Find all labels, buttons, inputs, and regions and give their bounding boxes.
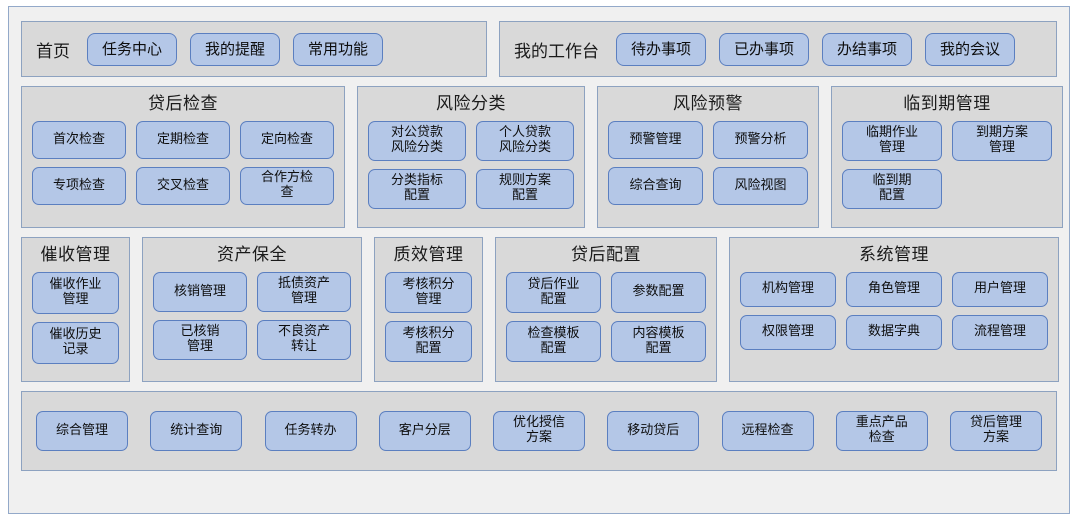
- menu-button-check-template-config[interactable]: 检查模板 配置: [506, 321, 601, 362]
- top-bar-row: 首页 任务中心 我的提醒 常用功能 我的工作台 待办事项 已办事项 办结事项 我…: [21, 21, 1057, 77]
- panel-body-collection-management: 催收作业 管理 催收历史 记录: [22, 272, 129, 381]
- menu-button-user-management[interactable]: 用户管理: [952, 272, 1048, 307]
- menu-button-personal-loan-risk-classification[interactable]: 个人贷款 风险分类: [476, 121, 574, 161]
- button-row: 首次检查 定期检查 定向检查: [32, 121, 334, 159]
- home-toolbar: 首页 任务中心 我的提醒 常用功能: [21, 21, 487, 77]
- panel-title-system-management: 系统管理: [730, 238, 1058, 272]
- menu-button-written-off-management[interactable]: 已核销 管理: [153, 320, 247, 360]
- button-row: 权限管理 数据字典 流程管理: [740, 315, 1048, 350]
- panel-title-loan-check: 贷后检查: [22, 87, 344, 121]
- button-row: 考核积分 管理: [385, 272, 472, 313]
- menu-button-organization-management[interactable]: 机构管理: [740, 272, 836, 307]
- button-row: 催收作业 管理: [32, 272, 119, 314]
- button-row: 预警管理 预警分析: [608, 121, 808, 159]
- workbench-toolbar: 我的工作台 待办事项 已办事项 办结事项 我的会议: [499, 21, 1057, 77]
- nav-button-my-meetings[interactable]: 我的会议: [925, 33, 1015, 66]
- menu-button-process-management[interactable]: 流程管理: [952, 315, 1048, 350]
- menu-button-near-maturity-task-management[interactable]: 临期作业 管理: [842, 121, 942, 161]
- panel-system-management: 系统管理 机构管理 角色管理 用户管理 权限管理 数据字典 流程管理: [729, 237, 1059, 382]
- panel-post-loan-config: 贷后配置 贷后作业 配置 参数配置 检查模板 配置 内容模板 配置: [495, 237, 717, 382]
- menu-button-comprehensive-management[interactable]: 综合管理: [36, 411, 128, 451]
- menu-button-debt-offset-asset-management[interactable]: 抵债资产 管理: [257, 272, 351, 312]
- nav-button-done[interactable]: 已办事项: [719, 33, 809, 66]
- nav-button-common-functions[interactable]: 常用功能: [293, 33, 383, 66]
- menu-button-warning-analysis[interactable]: 预警分析: [713, 121, 808, 159]
- panel-body-post-loan-config: 贷后作业 配置 参数配置 检查模板 配置 内容模板 配置: [496, 272, 716, 381]
- app-frame: 首页 任务中心 我的提醒 常用功能 我的工作台 待办事项 已办事项 办结事项 我…: [8, 6, 1070, 514]
- button-row: 已核销 管理 不良资产 转让: [153, 320, 351, 360]
- button-row: 临到期 配置: [842, 169, 1052, 209]
- menu-button-rule-scheme-config[interactable]: 规则方案 配置: [476, 169, 574, 209]
- menu-button-customer-stratification[interactable]: 客户分层: [379, 411, 471, 451]
- panel-body-maturity-management: 临期作业 管理 到期方案 管理 临到期 配置: [832, 121, 1062, 227]
- button-row: 综合管理 统计查询 任务转办 客户分层 优化授信 方案 移动贷后 远程检查 重点…: [36, 411, 1042, 451]
- panel-title-collection-management: 催收管理: [22, 238, 129, 272]
- button-row: 临期作业 管理 到期方案 管理: [842, 121, 1052, 161]
- menu-button-collection-history-record[interactable]: 催收历史 记录: [32, 322, 119, 364]
- menu-button-first-check[interactable]: 首次检查: [32, 121, 126, 159]
- menu-button-content-template-config[interactable]: 内容模板 配置: [611, 321, 706, 362]
- menu-button-classification-index-config[interactable]: 分类指标 配置: [368, 169, 466, 209]
- menu-button-statistical-query[interactable]: 统计查询: [150, 411, 242, 451]
- menu-button-parameter-config[interactable]: 参数配置: [611, 272, 706, 313]
- panel-title-quality-management: 质效管理: [375, 238, 482, 272]
- menu-button-periodic-check[interactable]: 定期检查: [136, 121, 230, 159]
- nav-button-completed[interactable]: 办结事项: [822, 33, 912, 66]
- menu-button-remote-check[interactable]: 远程检查: [722, 411, 814, 451]
- menu-button-collection-task-management[interactable]: 催收作业 管理: [32, 272, 119, 314]
- panel-body-system-management: 机构管理 角色管理 用户管理 权限管理 数据字典 流程管理: [730, 272, 1058, 381]
- menu-button-mobile-post-loan[interactable]: 移动贷后: [607, 411, 699, 451]
- button-row: 检查模板 配置 内容模板 配置: [506, 321, 706, 362]
- home-label: 首页: [36, 37, 70, 62]
- panel-collection-management: 催收管理 催收作业 管理 催收历史 记录: [21, 237, 130, 382]
- menu-button-comprehensive-query[interactable]: 综合查询: [608, 167, 703, 205]
- panel-body-quality-management: 考核积分 管理 考核积分 配置: [375, 272, 482, 381]
- menu-button-npl-transfer[interactable]: 不良资产 转让: [257, 320, 351, 360]
- panel-risk-warning: 风险预警 预警管理 预警分析 综合查询 风险视图: [597, 86, 819, 228]
- menu-button-risk-view[interactable]: 风险视图: [713, 167, 808, 205]
- panel-body-risk-warning: 预警管理 预警分析 综合查询 风险视图: [598, 121, 818, 227]
- module-row-2: 贷后检查 首次检查 定期检查 定向检查 专项检查 交叉检查 合作方检 查 风险分…: [21, 86, 1057, 228]
- menu-button-special-check[interactable]: 专项检查: [32, 167, 126, 205]
- panel-title-asset-preservation: 资产保全: [143, 238, 361, 272]
- button-row: 对公贷款 风险分类 个人贷款 风险分类: [368, 121, 574, 161]
- panel-title-maturity-management: 临到期管理: [832, 87, 1062, 121]
- menu-button-assessment-points-config[interactable]: 考核积分 配置: [385, 321, 472, 362]
- button-row: 催收历史 记录: [32, 322, 119, 364]
- nav-button-my-reminders[interactable]: 我的提醒: [190, 33, 280, 66]
- panel-title-risk-classification: 风险分类: [358, 87, 584, 121]
- menu-button-warning-management[interactable]: 预警管理: [608, 121, 703, 159]
- panel-loan-check: 贷后检查 首次检查 定期检查 定向检查 专项检查 交叉检查 合作方检 查: [21, 86, 345, 228]
- menu-button-optimize-credit-scheme[interactable]: 优化授信 方案: [493, 411, 585, 451]
- menu-button-maturity-scheme-management[interactable]: 到期方案 管理: [952, 121, 1052, 161]
- nav-button-task-center[interactable]: 任务中心: [87, 33, 177, 66]
- button-row: 考核积分 配置: [385, 321, 472, 362]
- button-row: 机构管理 角色管理 用户管理: [740, 272, 1048, 307]
- panel-body-quick-access: 综合管理 统计查询 任务转办 客户分层 优化授信 方案 移动贷后 远程检查 重点…: [22, 392, 1056, 470]
- menu-button-partner-check[interactable]: 合作方检 查: [240, 167, 334, 205]
- menu-button-permission-management[interactable]: 权限管理: [740, 315, 836, 350]
- panel-quick-access: 综合管理 统计查询 任务转办 客户分层 优化授信 方案 移动贷后 远程检查 重点…: [21, 391, 1057, 471]
- panel-body-loan-check: 首次检查 定期检查 定向检查 专项检查 交叉检查 合作方检 查: [22, 121, 344, 227]
- menu-button-writeoff-management[interactable]: 核销管理: [153, 272, 247, 312]
- menu-button-post-loan-task-config[interactable]: 贷后作业 配置: [506, 272, 601, 313]
- panel-asset-preservation: 资产保全 核销管理 抵债资产 管理 已核销 管理 不良资产 转让: [142, 237, 362, 382]
- nav-button-todo[interactable]: 待办事项: [616, 33, 706, 66]
- menu-button-task-transfer[interactable]: 任务转办: [265, 411, 357, 451]
- module-row-4: 综合管理 统计查询 任务转办 客户分层 优化授信 方案 移动贷后 远程检查 重点…: [21, 391, 1057, 471]
- menu-button-data-dictionary[interactable]: 数据字典: [846, 315, 942, 350]
- panel-title-post-loan-config: 贷后配置: [496, 238, 716, 272]
- button-row: 综合查询 风险视图: [608, 167, 808, 205]
- menu-button-key-product-check[interactable]: 重点产品 检查: [836, 411, 928, 451]
- menu-button-assessment-points-management[interactable]: 考核积分 管理: [385, 272, 472, 313]
- button-row: 专项检查 交叉检查 合作方检 查: [32, 167, 334, 205]
- menu-button-post-loan-management-scheme[interactable]: 贷后管理 方案: [950, 411, 1042, 451]
- panel-body-asset-preservation: 核销管理 抵债资产 管理 已核销 管理 不良资产 转让: [143, 272, 361, 381]
- button-row: 核销管理 抵债资产 管理: [153, 272, 351, 312]
- menu-button-maturity-config[interactable]: 临到期 配置: [842, 169, 942, 209]
- panel-quality-management: 质效管理 考核积分 管理 考核积分 配置: [374, 237, 483, 382]
- menu-button-targeted-check[interactable]: 定向检查: [240, 121, 334, 159]
- panel-risk-classification: 风险分类 对公贷款 风险分类 个人贷款 风险分类 分类指标 配置 规则方案 配置: [357, 86, 585, 228]
- menu-button-corporate-loan-risk-classification[interactable]: 对公贷款 风险分类: [368, 121, 466, 161]
- button-row: 贷后作业 配置 参数配置: [506, 272, 706, 313]
- panel-body-risk-classification: 对公贷款 风险分类 个人贷款 风险分类 分类指标 配置 规则方案 配置: [358, 121, 584, 227]
- workbench-label: 我的工作台: [514, 37, 599, 62]
- panel-maturity-management: 临到期管理 临期作业 管理 到期方案 管理 临到期 配置: [831, 86, 1063, 228]
- panel-title-risk-warning: 风险预警: [598, 87, 818, 121]
- module-row-3: 催收管理 催收作业 管理 催收历史 记录 资产保全 核销管理 抵债资产 管理 已…: [21, 237, 1057, 382]
- menu-button-cross-check[interactable]: 交叉检查: [136, 167, 230, 205]
- menu-button-role-management[interactable]: 角色管理: [846, 272, 942, 307]
- button-row: 分类指标 配置 规则方案 配置: [368, 169, 574, 209]
